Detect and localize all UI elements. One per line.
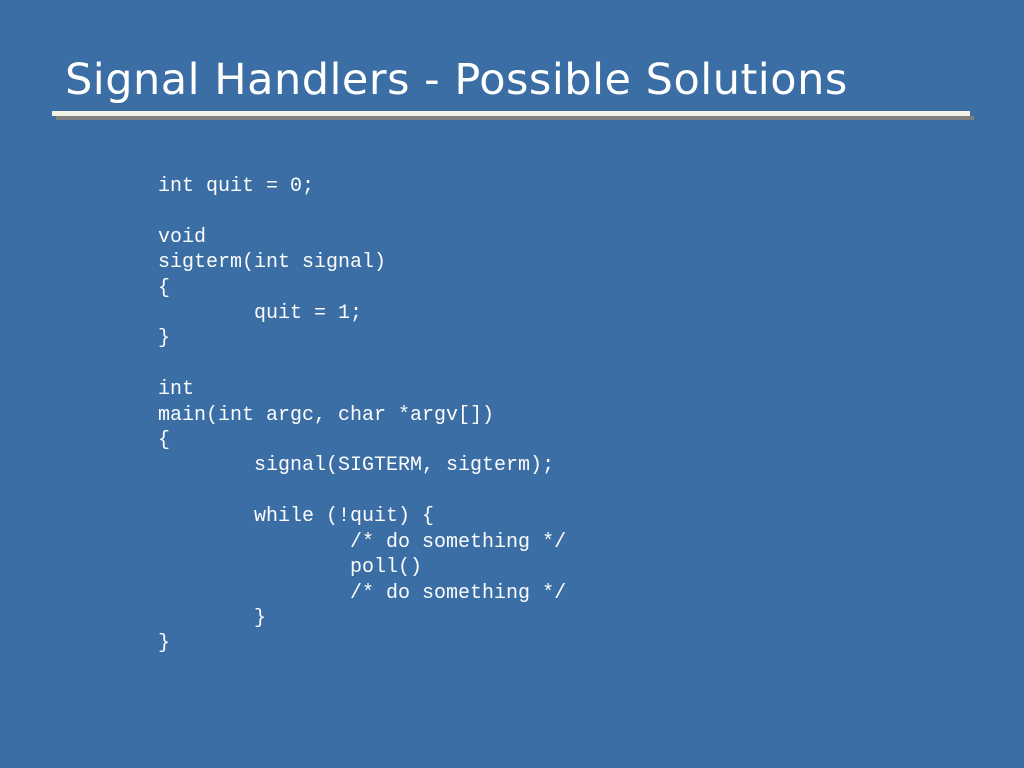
title-rule-line	[52, 111, 970, 116]
title-underline-rule	[52, 111, 970, 120]
page-title: Signal Handlers - Possible Solutions	[65, 54, 985, 106]
code-listing: int quit = 0; void sigterm(int signal) {…	[158, 174, 566, 657]
title-rule-shadow	[56, 116, 974, 120]
presentation-slide: Signal Handlers - Possible Solutions int…	[0, 0, 1024, 768]
